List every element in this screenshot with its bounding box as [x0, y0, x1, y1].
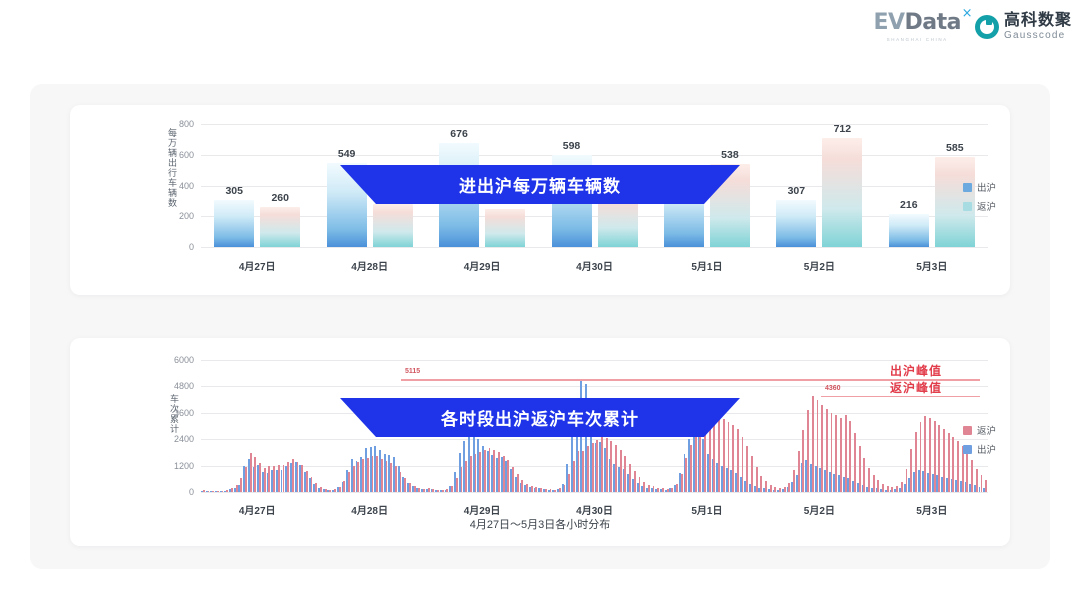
- chart2-bar-back[interactable]: [746, 446, 748, 492]
- chart2-bar-back[interactable]: [934, 421, 936, 492]
- chart1-xtick: 4月28日: [351, 258, 388, 273]
- chart2-bar-back[interactable]: [222, 491, 224, 492]
- chart1-bar-out[interactable]: [214, 200, 254, 247]
- chart1-legend-swatch: [963, 202, 972, 211]
- chart1-legend: 出沪返沪: [963, 180, 996, 218]
- chart2-bar-back[interactable]: [479, 452, 481, 492]
- chart2-bar-back[interactable]: [315, 483, 317, 492]
- chart2-annotation-value: 4360: [825, 385, 841, 392]
- chart-hourly-trips: 车次累计0120024003600480060004月27日4月28日4月29日…: [70, 338, 1010, 546]
- chart2-bar-back[interactable]: [751, 456, 753, 492]
- chart2-bar-back[interactable]: [667, 489, 669, 492]
- chart1-gridline: [201, 247, 988, 248]
- chart2-bar-back[interactable]: [231, 488, 233, 492]
- chart2-bar-back[interactable]: [592, 443, 594, 492]
- chart2-xtick: 4月27日: [239, 502, 276, 517]
- chart2-bar-back[interactable]: [503, 456, 505, 492]
- chart1-legend-item[interactable]: 返沪: [963, 199, 996, 213]
- chart1-bar-back[interactable]: [373, 204, 413, 247]
- chart2-bar-back[interactable]: [737, 429, 739, 492]
- chart2-bar-back[interactable]: [662, 488, 664, 492]
- gausscode-logo: 高科数聚 Gausscode: [975, 13, 1072, 41]
- chart2-bar-back[interactable]: [428, 488, 430, 492]
- chart2-ytick: 6000: [159, 355, 194, 365]
- chart2-yaxis-label: 车次累计: [168, 394, 181, 454]
- chart2-ytick: 4800: [159, 381, 194, 391]
- chart2-bar-back[interactable]: [657, 488, 659, 492]
- chart2-bar-back[interactable]: [798, 451, 800, 492]
- chart2-bar-back[interactable]: [774, 487, 776, 492]
- chart2-xaxis-caption: 4月27日～5月3日各小时分布: [470, 516, 611, 532]
- chart2-bar-back[interactable]: [643, 482, 645, 492]
- chart2-bar-back[interactable]: [634, 471, 636, 492]
- chart2-bar-back[interactable]: [863, 458, 865, 492]
- chart1-ytick: 600: [161, 150, 194, 160]
- chart2-xtick: 5月2日: [804, 502, 835, 517]
- chart2-bar-back[interactable]: [831, 413, 833, 492]
- chart2-legend-item[interactable]: 返沪: [963, 423, 996, 437]
- chart2-xtick: 5月1日: [691, 502, 722, 517]
- chart1-ytick: 200: [161, 211, 194, 221]
- chart2-bar-back[interactable]: [531, 486, 533, 492]
- chart2-xtick: 4月30日: [576, 502, 613, 517]
- chart2-bar-back[interactable]: [981, 475, 983, 492]
- chart2-bar-back[interactable]: [521, 480, 523, 492]
- chart2-bar-back[interactable]: [765, 481, 767, 492]
- chart2-bar-back[interactable]: [695, 435, 697, 492]
- page-header: EVData× SHANGHAI CHINA 高科数聚 Gausscode: [0, 0, 1080, 62]
- chart2-bar-back[interactable]: [948, 433, 950, 492]
- chart2-bar-back[interactable]: [320, 487, 322, 492]
- chart2-bar-back[interactable]: [929, 418, 931, 492]
- chart2-bar-back[interactable]: [226, 490, 228, 492]
- chart2-bar-back[interactable]: [273, 466, 275, 492]
- chart1-bar-value: 585: [946, 142, 964, 154]
- chart2-bar-back[interactable]: [208, 491, 210, 492]
- chart2-bar-back[interactable]: [278, 465, 280, 492]
- chart2-gridline: [201, 492, 988, 493]
- chart2-bar-back[interactable]: [545, 489, 547, 492]
- chart1-bar-value: 598: [563, 140, 581, 152]
- chart2-bar-back[interactable]: [587, 446, 589, 492]
- chart1-bar-group: 307712: [776, 124, 862, 247]
- chart1-ytick: 800: [161, 119, 194, 129]
- chart2-bar-back[interactable]: [971, 460, 973, 492]
- chart2-bar-back[interactable]: [690, 445, 692, 492]
- chart2-bar-back[interactable]: [920, 422, 922, 492]
- chart2-bar-back[interactable]: [212, 491, 214, 492]
- chart2-bar-back[interactable]: [250, 453, 252, 492]
- chart2-bar-back[interactable]: [887, 486, 889, 492]
- chart2-bar-back[interactable]: [648, 485, 650, 492]
- chart2-bar-back[interactable]: [367, 458, 369, 492]
- chart2-legend-swatch: [963, 445, 972, 454]
- chart2-bar-back[interactable]: [849, 421, 851, 492]
- chart1-xtick: 4月30日: [576, 258, 613, 273]
- chart2-bar-back[interactable]: [620, 450, 622, 492]
- chart2-bar-back[interactable]: [442, 490, 444, 492]
- chart2-bar-back[interactable]: [283, 465, 285, 492]
- chart2-bar-back[interactable]: [386, 461, 388, 492]
- chart2-annotation-line: [821, 396, 980, 397]
- chart2-bar-back[interactable]: [957, 441, 959, 492]
- chart1-ytick: 400: [161, 181, 194, 191]
- chart1-bar-value: 216: [900, 199, 918, 211]
- chart2-bar-back[interactable]: [353, 466, 355, 492]
- chart2-bar-back[interactable]: [671, 488, 673, 492]
- chart2-bar-back[interactable]: [718, 416, 720, 492]
- chart2-bar-back[interactable]: [788, 483, 790, 492]
- chart2-bar-back[interactable]: [826, 409, 828, 492]
- chart1-bar-value: 549: [338, 148, 356, 160]
- chart2-bar-back[interactable]: [451, 486, 453, 492]
- chart2-bar-back[interactable]: [573, 461, 575, 492]
- chart1-bar-value: 260: [271, 192, 289, 204]
- dashboard-panel: 每万辆出行车辆数02004006008003052604月27日5492804月…: [30, 84, 1050, 569]
- chart2-legend: 返沪出沪: [963, 423, 996, 461]
- chart2-bar-back[interactable]: [512, 467, 514, 492]
- chart2-bar-back[interactable]: [943, 429, 945, 492]
- chart2-bar-back[interactable]: [376, 456, 378, 492]
- chart2-ytick: 0: [159, 487, 194, 497]
- chart2-bar-back[interactable]: [845, 415, 847, 492]
- chart1-legend-label: 返沪: [977, 199, 996, 213]
- chart1-xtick: 5月1日: [691, 258, 722, 273]
- card-top-title-banner: 进出沪每万辆车辆数: [340, 165, 740, 204]
- chart2-bar-back[interactable]: [812, 396, 814, 492]
- chart2-bar-back[interactable]: [910, 449, 912, 492]
- chart1-legend-swatch: [963, 183, 972, 192]
- chart1-bar-back[interactable]: [260, 207, 300, 247]
- chart2-bar-back[interactable]: [554, 490, 556, 492]
- chart1-bar-value: 307: [788, 185, 806, 197]
- chart2-bar-back[interactable]: [835, 415, 837, 492]
- chart2-bar-back[interactable]: [409, 483, 411, 492]
- evdata-logo: EVData× SHANGHAI CHINA: [873, 12, 961, 42]
- chart2-bar-back[interactable]: [414, 486, 416, 492]
- chart1-bar-value: 305: [225, 185, 243, 197]
- chart2-bar-back[interactable]: [952, 437, 954, 492]
- chart2-bar-back[interactable]: [432, 489, 434, 492]
- chart2-bar-back[interactable]: [475, 454, 477, 492]
- chart2-xtick: 4月28日: [351, 502, 388, 517]
- chart1-bar-value: 712: [834, 123, 852, 135]
- chart1-xtick: 5月2日: [804, 258, 835, 273]
- chart1-bar-value: 538: [721, 149, 739, 161]
- chart2-bar-back[interactable]: [343, 481, 345, 492]
- chart2-bar-back[interactable]: [582, 451, 584, 492]
- chart2-bar-back[interactable]: [906, 469, 908, 492]
- evdata-subtitle: SHANGHAI CHINA: [887, 37, 948, 42]
- evdata-wordmark-data: Data: [905, 10, 961, 35]
- chart2-bar-back[interactable]: [840, 418, 842, 492]
- chart1-xtick: 4月29日: [464, 258, 501, 273]
- chart2-bar-back[interactable]: [404, 478, 406, 492]
- chart2-bar-back[interactable]: [873, 475, 875, 492]
- chart2-bar-back[interactable]: [559, 488, 561, 492]
- chart1-bar-back[interactable]: [822, 138, 862, 247]
- chart1-xtick: 5月3日: [916, 258, 947, 273]
- chart2-bar-back[interactable]: [817, 400, 819, 492]
- chart1-legend-item[interactable]: 出沪: [963, 180, 996, 194]
- evdata-wordmark-ev: EV: [873, 10, 904, 35]
- chart2-bar-back[interactable]: [203, 490, 205, 492]
- chart2-bar-back[interactable]: [357, 462, 359, 492]
- chart2-bar-back[interactable]: [742, 437, 744, 492]
- chart2-bar-back[interactable]: [297, 462, 299, 492]
- chart2-bar-back[interactable]: [901, 482, 903, 492]
- chart1-bar-value: 676: [450, 128, 468, 140]
- chart2-bar-back[interactable]: [240, 478, 242, 492]
- chart2-bar-back[interactable]: [348, 472, 350, 492]
- chart2-bar-back[interactable]: [760, 476, 762, 492]
- chart2-bar-back[interactable]: [245, 467, 247, 492]
- chart2-bar-back[interactable]: [976, 469, 978, 492]
- chart2-bar-back[interactable]: [676, 484, 678, 492]
- chart2-bar-back[interactable]: [287, 462, 289, 492]
- chart2-bar-back[interactable]: [564, 485, 566, 492]
- chart2-bar-back[interactable]: [423, 489, 425, 492]
- chart2-annotation-value: 5115: [405, 368, 420, 375]
- gausscode-name-en: Gausscode: [1004, 30, 1072, 41]
- chart2-bar-back[interactable]: [507, 460, 509, 492]
- chart2-legend-swatch: [963, 426, 972, 435]
- chart2-bar-back[interactable]: [259, 463, 261, 492]
- chart2-bar-back[interactable]: [268, 466, 270, 492]
- gausscode-text: 高科数聚 Gausscode: [1004, 13, 1072, 41]
- chart2-bar-back[interactable]: [596, 440, 598, 492]
- chart2-bar-back[interactable]: [535, 487, 537, 492]
- chart2-bar-back[interactable]: [390, 463, 392, 492]
- chart2-bar-back[interactable]: [470, 456, 472, 492]
- evdata-superscript-icon: ×: [962, 7, 972, 20]
- chart2-bar-back[interactable]: [325, 489, 327, 492]
- chart2-bar-back[interactable]: [489, 448, 491, 492]
- chart1-ytick: 0: [161, 242, 194, 252]
- chart2-bar-back[interactable]: [784, 487, 786, 492]
- chart2-bar-back[interactable]: [924, 416, 926, 492]
- chart2-bar-back[interactable]: [882, 484, 884, 492]
- chart2-bar-back[interactable]: [681, 474, 683, 492]
- card-bottom-title-banner: 各时段出沪返沪车次累计: [340, 398, 740, 437]
- chart2-bar-back[interactable]: [306, 471, 308, 492]
- card-hourly-trips: 车次累计0120024003600480060004月27日4月28日4月29日…: [70, 338, 1010, 546]
- chart2-bar-back[interactable]: [821, 405, 823, 492]
- chart2-bar-back[interactable]: [854, 433, 856, 492]
- chart2-legend-label: 出沪: [977, 442, 996, 456]
- chart2-bar-back[interactable]: [859, 446, 861, 492]
- chart2-bar-back[interactable]: [484, 450, 486, 492]
- logo-group: EVData× SHANGHAI CHINA 高科数聚 Gausscode: [873, 12, 1072, 42]
- chart2-bar-back[interactable]: [526, 484, 528, 492]
- gausscode-mark-icon: [975, 15, 999, 39]
- chart2-bar-back[interactable]: [985, 480, 987, 492]
- gausscode-name-cn: 高科数聚: [1004, 13, 1072, 30]
- chart2-bar-back[interactable]: [770, 485, 772, 492]
- chart1-bar-back[interactable]: [485, 209, 525, 247]
- chart2-bar-back[interactable]: [550, 489, 552, 492]
- chart2-bar-back[interactable]: [254, 457, 256, 492]
- chart1-bar-out[interactable]: [776, 200, 816, 247]
- chart2-bar-back[interactable]: [517, 474, 519, 492]
- chart2-bar-back[interactable]: [568, 474, 570, 492]
- chart2-bar-back[interactable]: [685, 458, 687, 492]
- chart2-legend-label: 返沪: [977, 423, 996, 437]
- chart2-bar-back[interactable]: [578, 451, 580, 492]
- chart2-bar-back[interactable]: [418, 488, 420, 492]
- chart2-ytick: 2400: [159, 434, 194, 444]
- chart2-bar-back[interactable]: [498, 452, 500, 492]
- chart2-annotation-label: 出沪峰值: [890, 362, 942, 379]
- chart2-bar-back[interactable]: [301, 465, 303, 493]
- chart2-bar-back[interactable]: [615, 445, 617, 492]
- chart2-bar-back[interactable]: [723, 419, 725, 492]
- chart2-bar-back[interactable]: [217, 491, 219, 492]
- chart2-bar-back[interactable]: [629, 464, 631, 492]
- chart2-annotation-label: 返沪峰值: [890, 379, 942, 396]
- chart2-bar-back[interactable]: [779, 488, 781, 492]
- chart2-bar-back[interactable]: [601, 437, 603, 492]
- chart1-bar-group: 216585: [889, 124, 975, 247]
- chart2-bar-back[interactable]: [400, 472, 402, 492]
- chart2-bar-back[interactable]: [264, 468, 266, 492]
- chart2-bar-back[interactable]: [362, 459, 364, 492]
- chart2-xtick: 5月3日: [916, 502, 947, 517]
- chart2-bar-back[interactable]: [793, 470, 795, 492]
- chart2-bar-back[interactable]: [610, 441, 612, 492]
- chart2-bar-back[interactable]: [653, 486, 655, 492]
- chart2-bar-back[interactable]: [756, 467, 758, 492]
- chart2-bar-back[interactable]: [461, 467, 463, 492]
- chart2-bar-back[interactable]: [339, 487, 341, 493]
- chart1-xtick: 4月27日: [239, 258, 276, 273]
- chart2-bar-back[interactable]: [311, 477, 313, 492]
- chart2-ytick: 1200: [159, 461, 194, 471]
- chart2-bar-back[interactable]: [395, 466, 397, 492]
- chart1-bar-group: 305260: [214, 124, 300, 247]
- chart2-bar-back[interactable]: [639, 477, 641, 492]
- chart2-bar-back[interactable]: [877, 480, 879, 492]
- chart2-bar-back[interactable]: [456, 478, 458, 492]
- chart2-bar-back[interactable]: [540, 488, 542, 492]
- chart2-bar-back[interactable]: [732, 425, 734, 492]
- chart2-ytick: 3600: [159, 408, 194, 418]
- chart2-bar-back[interactable]: [802, 430, 804, 492]
- chart2-bar-back[interactable]: [381, 459, 383, 492]
- chart2-xtick: 4月29日: [464, 502, 501, 517]
- chart2-bar-back[interactable]: [606, 438, 608, 492]
- chart2-bar-back[interactable]: [938, 425, 940, 492]
- chart2-bar-back[interactable]: [891, 487, 893, 492]
- chart2-bar-back[interactable]: [493, 450, 495, 492]
- chart2-bar-back[interactable]: [372, 456, 374, 492]
- chart2-legend-item[interactable]: 出沪: [963, 442, 996, 456]
- chart2-bar-back[interactable]: [807, 410, 809, 492]
- chart2-bar-back[interactable]: [292, 459, 294, 492]
- evdata-wordmark: EVData×: [873, 12, 961, 34]
- chart2-bar-back[interactable]: [437, 490, 439, 492]
- chart2-bar-back[interactable]: [728, 422, 730, 492]
- chart1-bar-out[interactable]: [889, 214, 929, 247]
- chart2-bar-back[interactable]: [896, 486, 898, 492]
- chart2-bar-back[interactable]: [334, 489, 336, 492]
- chart2-bar-back[interactable]: [329, 490, 331, 492]
- chart2-bar-back[interactable]: [465, 461, 467, 492]
- chart2-bar-back[interactable]: [446, 489, 448, 492]
- chart1-legend-label: 出沪: [977, 180, 996, 194]
- chart2-bar-back[interactable]: [624, 456, 626, 492]
- chart2-bar-back[interactable]: [236, 485, 238, 492]
- chart2-bar-back[interactable]: [868, 468, 870, 492]
- chart2-bar-back[interactable]: [915, 432, 917, 492]
